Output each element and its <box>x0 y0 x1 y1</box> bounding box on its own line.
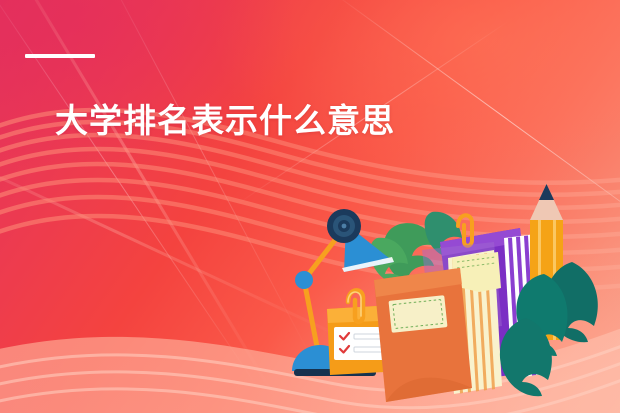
study-desk-illustration <box>282 176 620 413</box>
page-title: 大学排名表示什么意思 <box>55 102 395 140</box>
banner-root: 大学排名表示什么意思 <box>0 0 620 413</box>
lamp-joint-icon <box>295 271 313 289</box>
book-orange <box>374 268 472 402</box>
diagonal-light-streak <box>0 0 278 401</box>
title-accent-rule <box>25 54 95 58</box>
book-label <box>388 295 447 333</box>
diagonal-light-streak <box>0 0 261 392</box>
pencil-tip <box>539 184 554 200</box>
diagonal-light-streak <box>89 0 311 356</box>
